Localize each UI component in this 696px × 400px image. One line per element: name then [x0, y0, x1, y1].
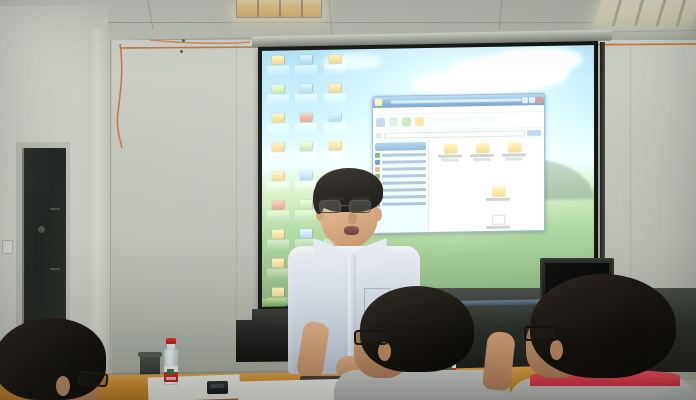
- ceiling-light-icon: [594, 0, 696, 26]
- folder-item[interactable]: [469, 143, 495, 161]
- ear-icon: [56, 376, 70, 396]
- attendee-hair: [0, 318, 106, 400]
- ceiling-light-icon: [236, 0, 322, 18]
- bottle-label: [164, 366, 178, 382]
- desktop-icon[interactable]: [295, 112, 317, 138]
- attendee-foreground-right: [500, 274, 696, 400]
- file-list-area[interactable]: [429, 138, 544, 232]
- desktop-icon[interactable]: [267, 112, 289, 138]
- glasses-icon: [354, 330, 388, 345]
- bottle-body: [164, 349, 178, 385]
- back-icon[interactable]: [376, 118, 385, 127]
- maximize-icon[interactable]: [529, 97, 535, 103]
- desktop-icon[interactable]: [295, 54, 317, 80]
- ear-icon: [550, 340, 563, 360]
- up-icon[interactable]: [402, 117, 411, 126]
- start-button[interactable]: [262, 298, 288, 306]
- extra-toolbar-button[interactable]: [480, 116, 502, 125]
- folder-item[interactable]: [485, 187, 511, 201]
- close-icon[interactable]: [536, 97, 542, 103]
- desktop-icon[interactable]: [324, 82, 346, 108]
- address-folder-icon: [376, 132, 382, 138]
- desktop-icon[interactable]: [267, 54, 289, 80]
- desktop-icon[interactable]: [324, 140, 346, 166]
- wall-seam: [236, 44, 237, 344]
- folder-item[interactable]: [501, 142, 527, 160]
- folders-button[interactable]: [428, 117, 450, 126]
- attendee-back-view: [348, 286, 498, 400]
- task-pane-item[interactable]: [375, 152, 426, 158]
- wall-seam: [110, 40, 111, 370]
- desktop-icon[interactable]: [324, 111, 346, 137]
- desktop-icon[interactable]: [295, 141, 317, 167]
- cable-clip-icon: [182, 39, 185, 42]
- desktop-icon[interactable]: [267, 141, 289, 167]
- task-pane-item[interactable]: [375, 159, 426, 165]
- go-button[interactable]: [527, 130, 541, 136]
- folder-item[interactable]: [437, 143, 463, 161]
- attendee-hair: [360, 286, 474, 372]
- attendee-foreground-left: [0, 318, 110, 400]
- nose: [348, 213, 357, 224]
- desktop-icon[interactable]: [324, 53, 346, 79]
- views-button[interactable]: [454, 116, 476, 125]
- task-pane-header: [375, 142, 426, 151]
- search-icon[interactable]: [415, 117, 424, 126]
- mouth-open: [344, 226, 359, 235]
- photo-scene: [0, 0, 696, 400]
- minimize-icon[interactable]: [522, 97, 528, 103]
- desktop-icon[interactable]: [295, 83, 317, 109]
- address-input[interactable]: [384, 130, 525, 138]
- window-title-text: [391, 98, 521, 103]
- forward-icon[interactable]: [389, 118, 398, 127]
- remote-control[interactable]: [207, 381, 228, 394]
- file-item[interactable]: [485, 215, 511, 229]
- glasses-icon: [524, 326, 558, 341]
- door-handle-icon[interactable]: [38, 226, 45, 233]
- folder-icon: [375, 99, 382, 106]
- glasses-icon: [77, 370, 108, 387]
- desktop-icon[interactable]: [267, 83, 289, 109]
- water-bottle: [164, 338, 178, 385]
- light-switch-icon[interactable]: [2, 240, 13, 254]
- glasses-icon: [319, 200, 379, 213]
- cable-clip-icon: [180, 50, 183, 53]
